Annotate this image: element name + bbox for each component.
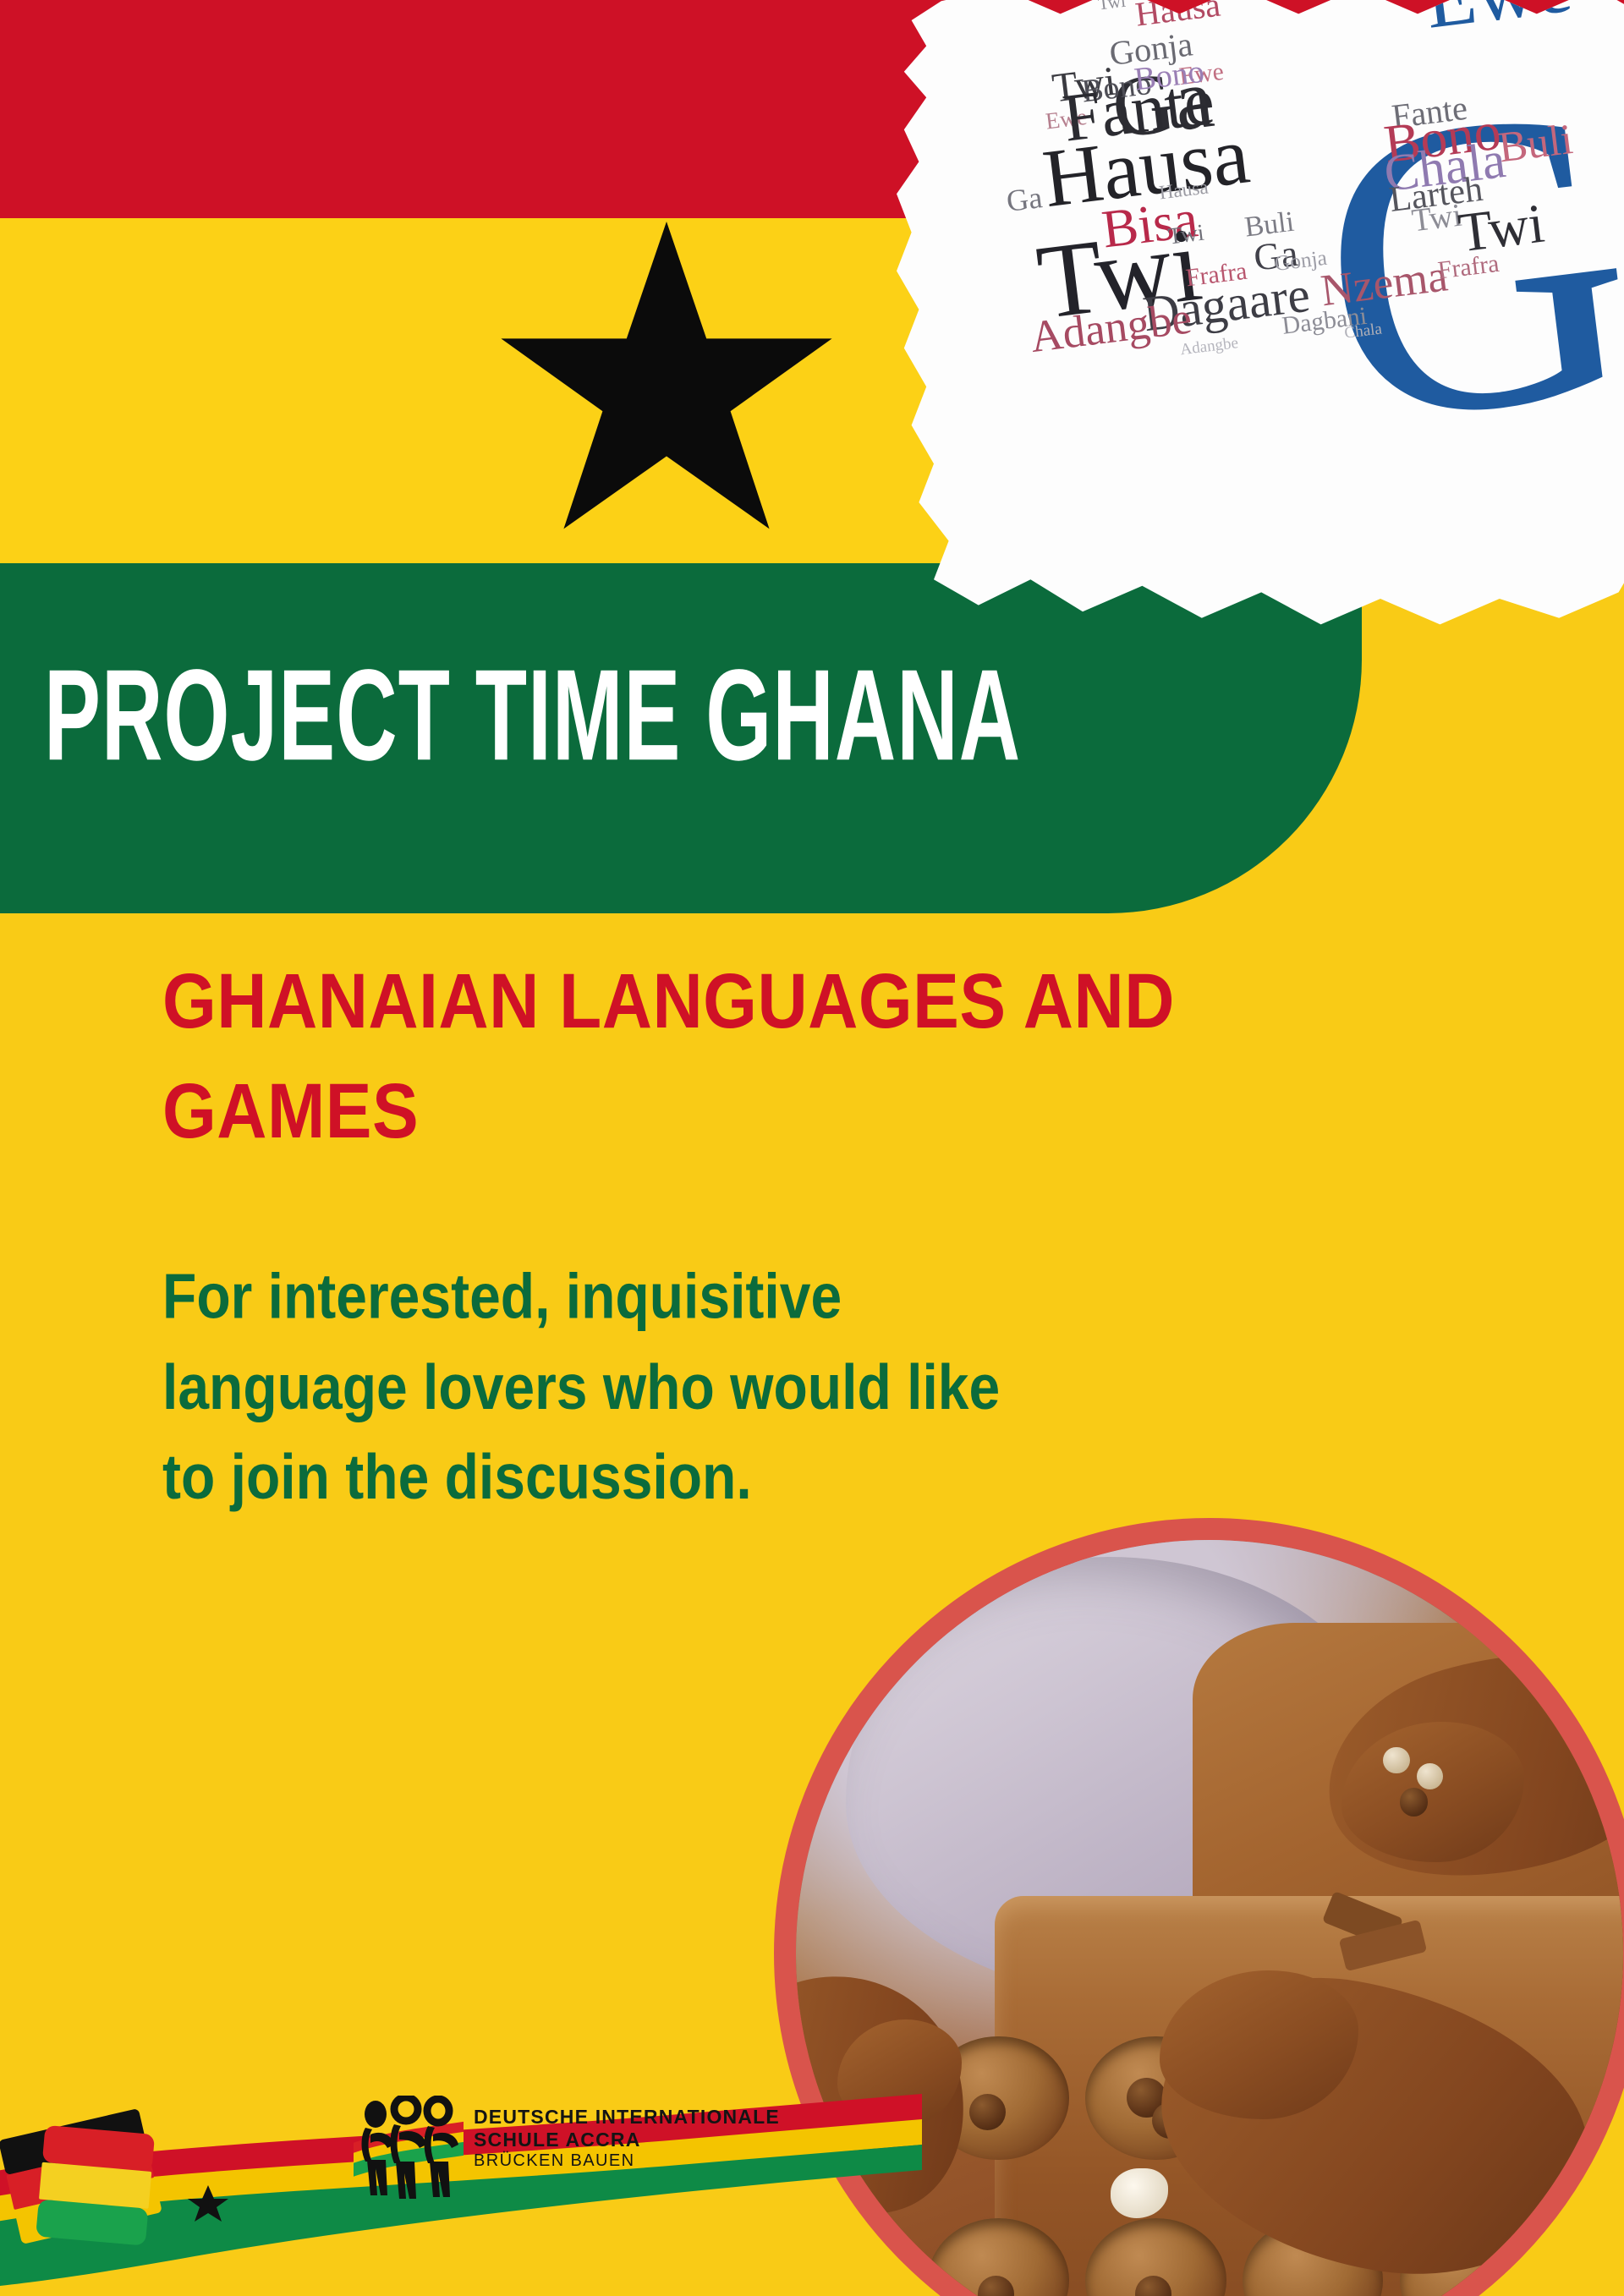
logo-text-block: DEUTSCHE INTERNATIONALE SCHULE ACCRA BRÜ… (474, 2106, 780, 2172)
photo-seed (1400, 1788, 1428, 1816)
page-title: PROJECT TIME GHANA (44, 650, 1021, 780)
photo-seed (1417, 1763, 1443, 1789)
school-logo: DEUTSCHE INTERNATIONALE SCHULE ACCRA BRÜ… (354, 2096, 827, 2222)
wordcloud-word: Chala (1343, 321, 1383, 341)
torn-paper-shape: G HausaTwiAvGonjaEweGaEweTwiBonoBonoEweF… (897, 0, 1624, 631)
photo-seed (1383, 1747, 1409, 1773)
logo-line-3: BRÜCKEN BAUEN (474, 2151, 780, 2172)
headline-text: GHANAIAN LANGUAGES AND GAMES (162, 947, 1448, 1168)
wordcloud-word: Twi (1167, 221, 1206, 249)
wordcloud-word: Ga (1005, 184, 1044, 218)
poster-canvas: PROJECT TIME GHANA G HausaTwiAvGonjaEweG… (0, 0, 1624, 2296)
wordcloud-words: G HausaTwiAvGonjaEweGaEweTwiBonoBonoEweF… (897, 0, 1624, 631)
wordcloud-word: Twi (1097, 0, 1127, 14)
three-figures-icon (354, 2096, 464, 2214)
logo-line-1: DEUTSCHE INTERNATIONALE (474, 2106, 780, 2129)
logo-line-2: SCHULE ACCRA (474, 2129, 780, 2151)
wordcloud-word: Buli (1496, 118, 1575, 170)
language-wordcloud: G HausaTwiAvGonjaEweGaEweTwiBonoBonoEweF… (897, 0, 1624, 631)
wordcloud-word: Twi (1456, 196, 1548, 262)
body-text: For interested, inquisitive language lov… (162, 1252, 1017, 1523)
